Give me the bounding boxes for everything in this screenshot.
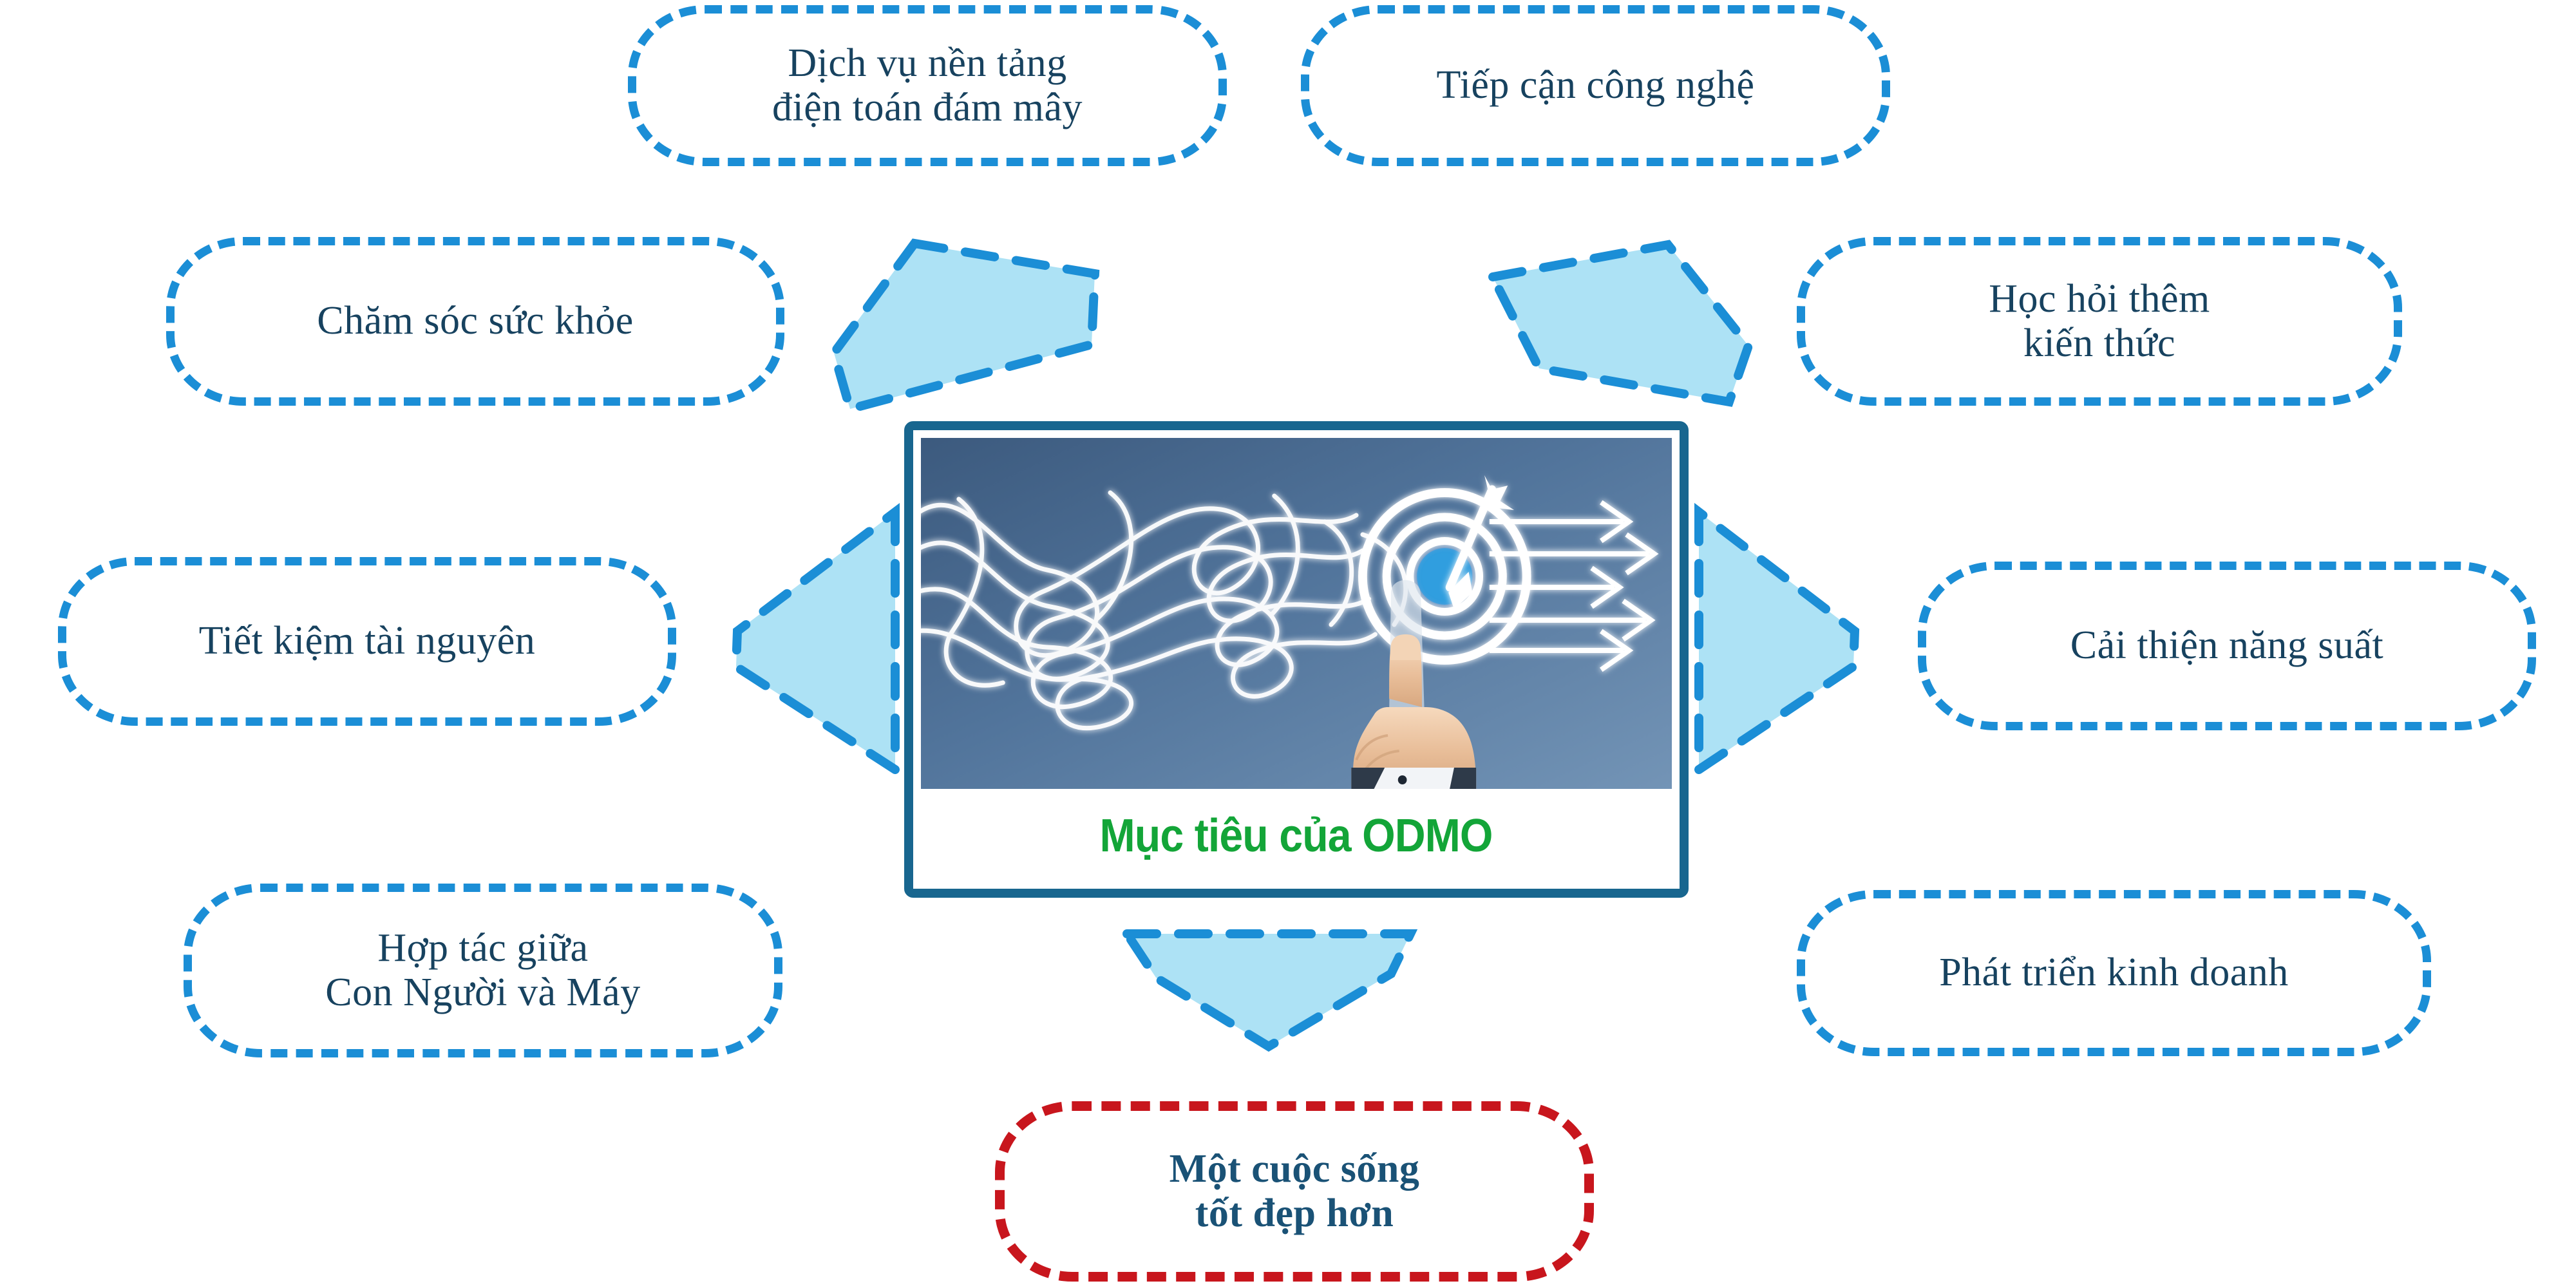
connector-top-right [1475, 240, 1784, 413]
bubble-business-development[interactable]: Phát triển kinh doanh [1797, 890, 2431, 1056]
mindmap-canvas: Dịch vụ nền tảng điện toán đám mây Tiếp … [0, 0, 2576, 1288]
bubble-technology-access[interactable]: Tiếp cận công nghệ [1301, 5, 1890, 166]
bubble-human-machine-cooperation[interactable]: Hợp tác giữa Con Người và Máy [184, 884, 782, 1057]
card-caption: Mục tiêu của ODMO [921, 789, 1672, 882]
bubble-cloud-platform-services[interactable]: Dịch vụ nền tảng điện toán đám mây [628, 5, 1227, 166]
bubble-label: Chăm sóc sức khỏe [287, 299, 663, 343]
bubble-save-resources[interactable]: Tiết kiệm tài nguyên [58, 557, 676, 726]
bubble-label: Phát triển kinh doanh [1909, 951, 2318, 995]
bubble-label: Một cuộc sống tốt đẹp hơn [1140, 1147, 1450, 1236]
bubble-label: Tiếp cận công nghệ [1406, 63, 1784, 108]
connector-bottom [1121, 927, 1417, 1056]
bubble-label: Dịch vụ nền tảng điện toán đám mây [743, 41, 1112, 131]
bubble-healthcare[interactable]: Chăm sóc sức khỏe [166, 237, 784, 406]
bubble-label: Cải thiện năng suất [2041, 623, 2413, 668]
bubble-label: Tiết kiệm tài nguyên [169, 619, 565, 663]
card-caption-label: Mục tiêu của ODMO [1100, 810, 1493, 862]
bubble-better-life[interactable]: Một cuộc sống tốt đẹp hơn [995, 1101, 1594, 1282]
connector-right [1687, 506, 1861, 776]
bubble-label: Học hỏi thêm kiến thức [1959, 277, 2240, 366]
hand-pointing-at-target-icon [921, 438, 1672, 789]
connector-left [731, 506, 905, 776]
bubble-label: Hợp tác giữa Con Người và Máy [296, 926, 670, 1016]
center-card[interactable]: Mục tiêu của ODMO [904, 421, 1689, 898]
bubble-improve-productivity[interactable]: Cải thiện năng suất [1918, 562, 2536, 730]
card-inner: Mục tiêu của ODMO [921, 438, 1672, 882]
connector-top-left [799, 238, 1108, 412]
bubble-learn-more-knowledge[interactable]: Học hỏi thêm kiến thức [1797, 237, 2402, 406]
